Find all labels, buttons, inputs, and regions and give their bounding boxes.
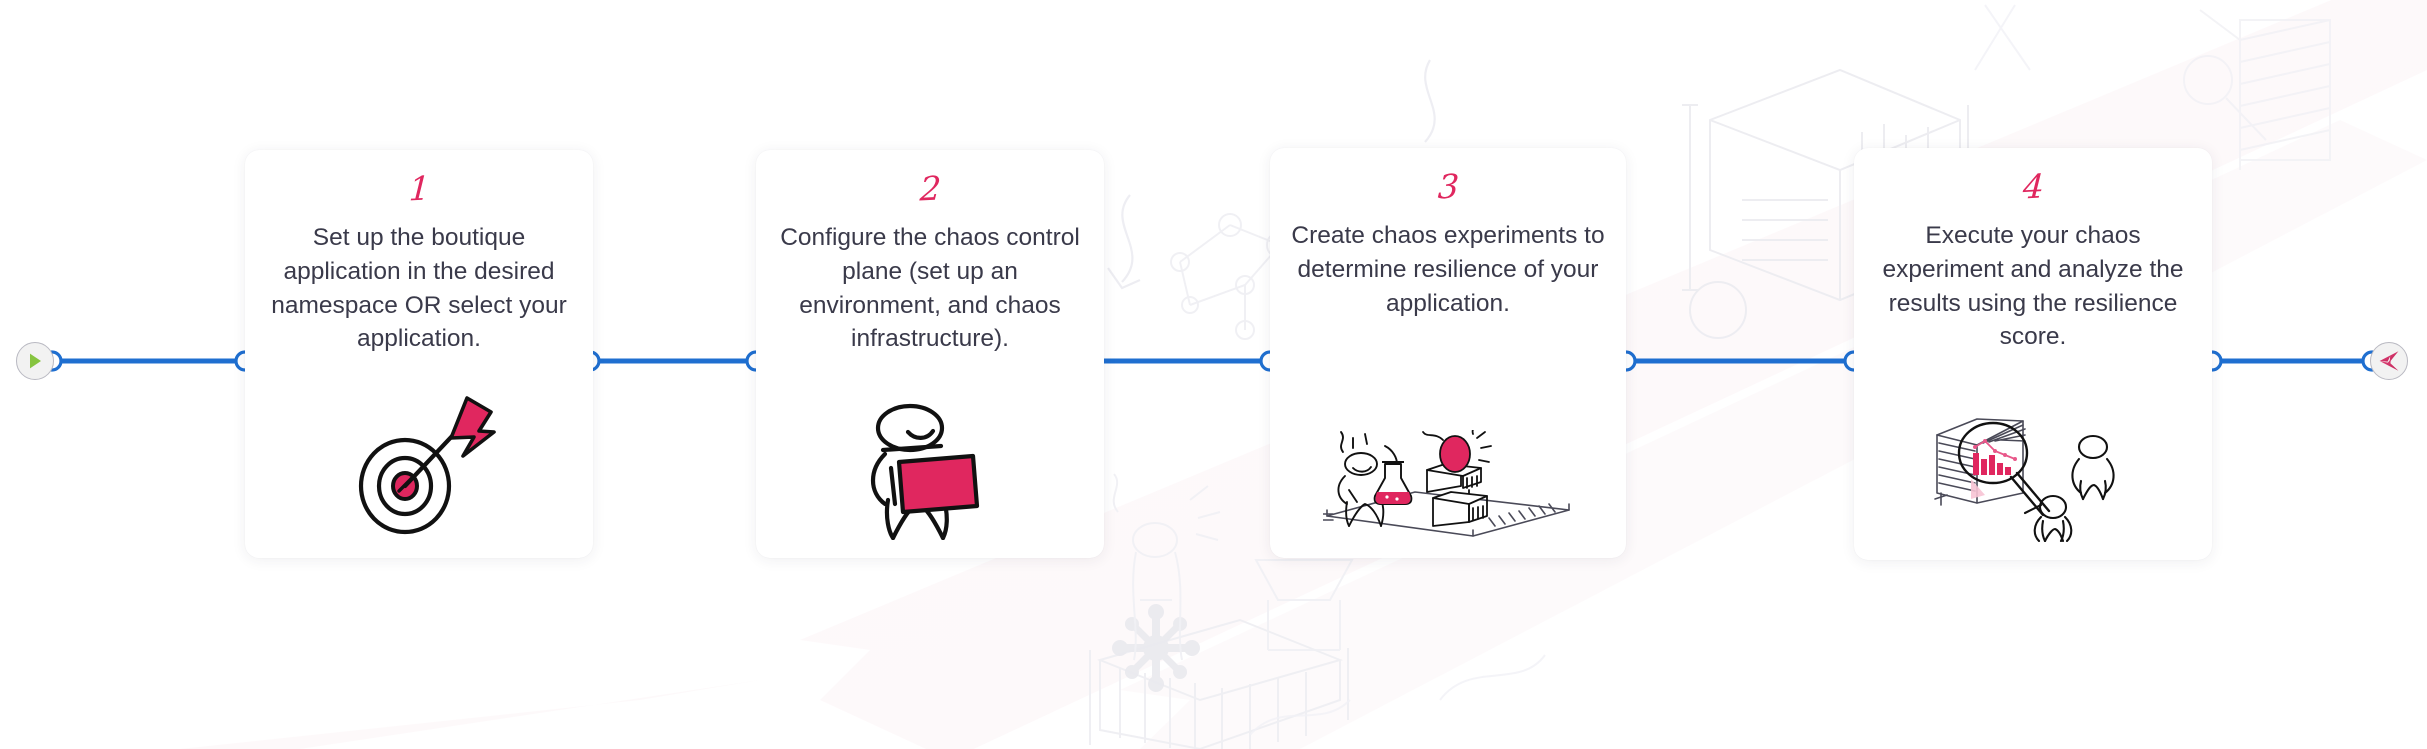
step-art-2 — [774, 400, 1086, 540]
litmus-logo-icon — [2377, 349, 2401, 373]
play-icon — [25, 351, 45, 371]
target-with-arrow-icon — [339, 390, 499, 540]
mini-bar-chart — [1973, 439, 2017, 475]
step-card-3[interactable]: 3 Create chaos experiments to determine … — [1270, 148, 1626, 558]
figure-watermark-left — [1114, 474, 1220, 660]
hatched-panel-watermark — [2184, 10, 2330, 170]
end-node[interactable] — [2370, 342, 2408, 380]
step-text-4: Execute your chaos experiment and analyz… — [1872, 219, 2194, 354]
step-card-1[interactable]: 1 Set up the boutique application in the… — [245, 150, 593, 558]
step-number-2: 2 — [919, 171, 942, 205]
step-text-3: Create chaos experiments to determine re… — [1288, 219, 1608, 320]
workflow-diagram: 1 Set up the boutique application in the… — [0, 0, 2427, 749]
start-node[interactable] — [16, 342, 54, 380]
step-number-3: 3 — [1437, 169, 1460, 203]
step-art-1 — [263, 390, 575, 540]
kubernetes-wheel-watermark — [1098, 590, 1214, 706]
step-text-2: Configure the chaos control plane (set u… — [774, 221, 1086, 356]
isometric-cylinder-watermark — [1090, 620, 1348, 749]
step-art-4 — [1872, 417, 2194, 542]
magnifier-over-chart-icon — [1933, 417, 2133, 542]
step-number-4: 4 — [2022, 169, 2045, 203]
step-card-2[interactable]: 2 Configure the chaos control plane (set… — [756, 150, 1104, 558]
person-holding-board-icon — [855, 400, 1005, 540]
step-text-1: Set up the boutique application in the d… — [263, 221, 575, 356]
step-card-4[interactable]: 4 Execute your chaos experiment and anal… — [1854, 148, 2212, 560]
step-number-1: 1 — [408, 171, 431, 205]
scientist-with-flask-icon — [1323, 430, 1573, 540]
step-art-3 — [1288, 430, 1608, 540]
